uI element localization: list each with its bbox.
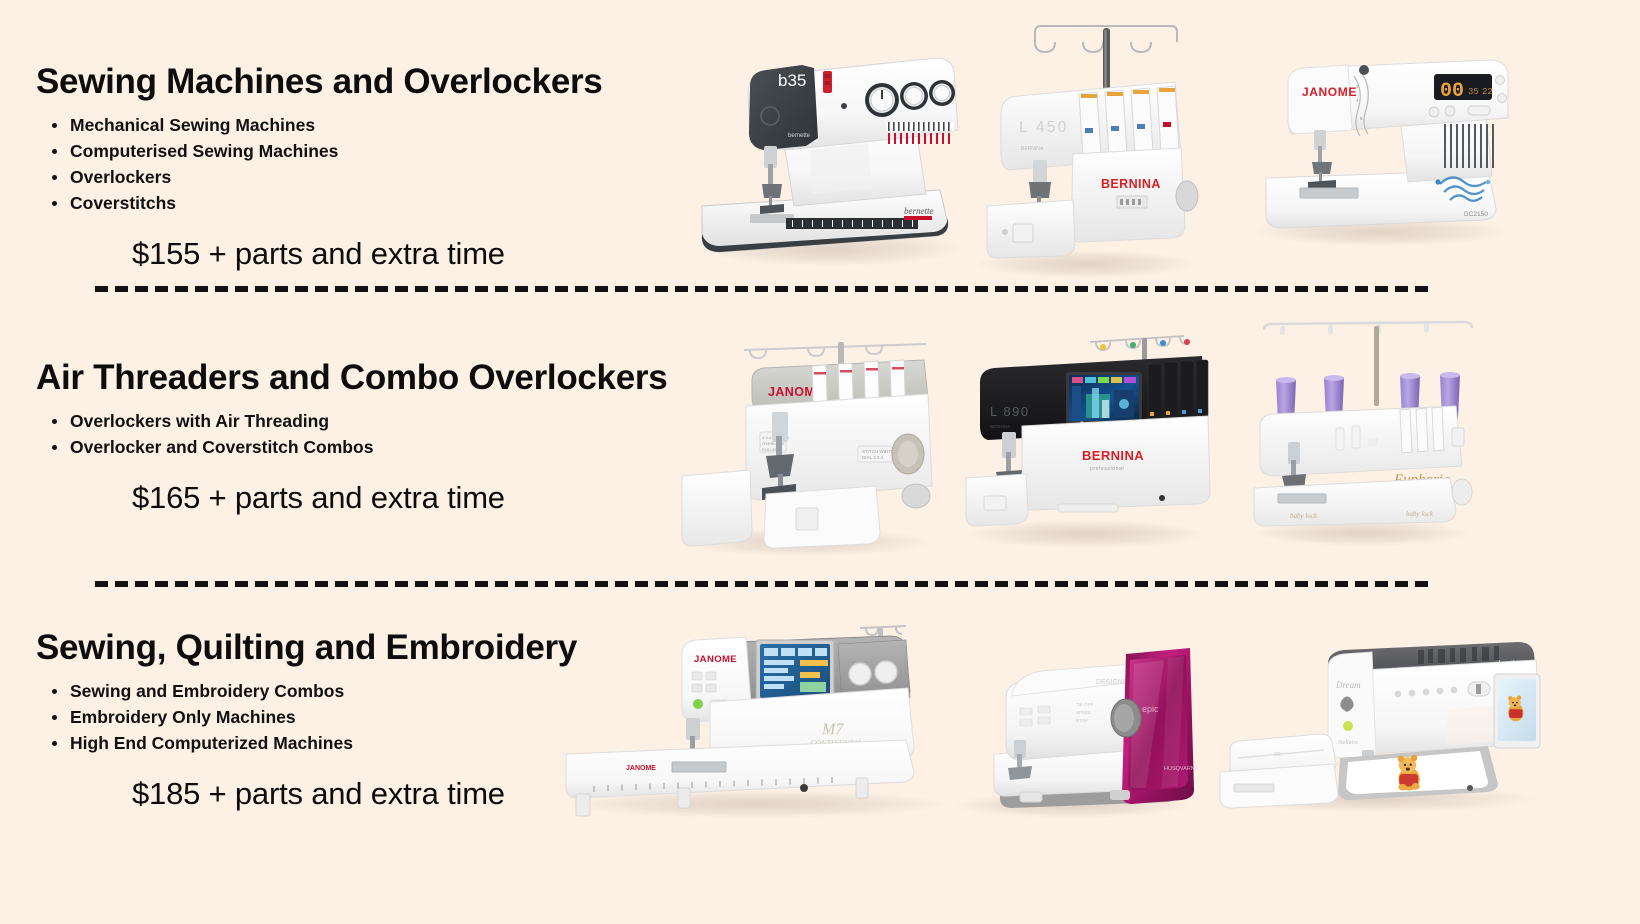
svg-text:Dream: Dream xyxy=(1335,680,1361,690)
machine-janome-continental: JANOME M7 CONTI xyxy=(560,622,956,818)
svg-text:BERNINA: BERNINA xyxy=(990,424,1010,429)
machine-janome-overlocker: JANOME 4-3-2 THREADOVERLOCKROLLED STITCH… xyxy=(676,336,932,552)
section-2-heading: Air Threaders and Combo Overlockers xyxy=(36,358,667,398)
section-1-bullet-list: Mechanical Sewing Machines Computerised … xyxy=(36,112,602,216)
svg-text:BERNINA: BERNINA xyxy=(1082,448,1144,463)
list-item: Overlockers xyxy=(36,164,602,190)
svg-text:HUSQVARNA: HUSQVARNA xyxy=(1164,766,1199,772)
svg-text:baby lock: baby lock xyxy=(1290,512,1318,520)
svg-text:35: 35 xyxy=(1468,87,1479,97)
list-item: High End Computerized Machines xyxy=(36,730,577,756)
svg-text:JANOME: JANOME xyxy=(694,654,737,665)
section-2-price: $165 + parts and extra time xyxy=(36,480,667,516)
svg-text:22: 22 xyxy=(1482,87,1493,97)
list-item: Embroidery Only Machines xyxy=(36,704,577,730)
machine-bernina-l450: L 450 BERNINA BERNINA xyxy=(975,20,1197,266)
svg-text:BERNINA: BERNINA xyxy=(1101,177,1161,191)
svg-text:baby lock: baby lock xyxy=(1406,510,1434,518)
svg-text:DC2150: DC2150 xyxy=(1464,211,1488,218)
svg-text:SPEED: SPEED xyxy=(1076,710,1092,715)
svg-text:bernette: bernette xyxy=(904,206,934,216)
list-item: Coverstitchs xyxy=(36,190,602,216)
section-3-heading: Sewing, Quilting and Embroidery xyxy=(36,628,577,668)
list-item: Computerised Sewing Machines xyxy=(36,138,602,164)
machine-bernette-b35: b35 bernette xyxy=(690,38,958,262)
svg-text:epic: epic xyxy=(1142,704,1159,714)
svg-text:L 450: L 450 xyxy=(1019,119,1068,136)
divider-2 xyxy=(95,581,1432,587)
svg-text:TIE OFF: TIE OFF xyxy=(1076,702,1093,707)
svg-text:BERNINA: BERNINA xyxy=(1021,146,1044,152)
svg-text:XE: XE xyxy=(1274,752,1281,758)
section-sewing-machines-and-overlockers: Sewing Machines and Overlockers Mechanic… xyxy=(36,62,602,272)
svg-text:bernette: bernette xyxy=(788,133,811,139)
machine-husqvarna-epic: TIE OFFSPEEDSTOP DESIGNER epic HUSQVARNA xyxy=(950,640,1194,816)
divider-1 xyxy=(95,286,1432,292)
machine-brother-embroidery: brother Dream Stellaire xyxy=(1212,638,1542,810)
section-3-price: $185 + parts and extra time xyxy=(36,776,577,812)
svg-text:STITCH WIDTH: STITCH WIDTH xyxy=(862,449,894,454)
machine-babylock-euphoria: Euphoria baby lock baby lock xyxy=(1250,312,1478,528)
section-2-bullet-list: Overlockers with Air Threading Overlocke… xyxy=(36,408,667,460)
svg-text:JANOME: JANOME xyxy=(1302,85,1357,99)
list-item: Mechanical Sewing Machines xyxy=(36,112,602,138)
svg-text:L 890: L 890 xyxy=(990,404,1030,419)
machine-bernina-l890: L 890 BERNINA BERNINA professional xyxy=(962,316,1210,528)
section-air-threaders-and-combo-overlockers: Air Threaders and Combo Overlockers Over… xyxy=(36,358,667,516)
svg-text:M7: M7 xyxy=(821,721,844,738)
machine-janome-dc2150: JANOME 345 00 3522 xyxy=(1252,58,1508,238)
svg-text:b35: b35 xyxy=(778,71,806,90)
led-display-value: 00 xyxy=(1440,80,1464,103)
svg-text:Stellaire: Stellaire xyxy=(1338,740,1358,746)
list-item: Overlocker and Coverstitch Combos xyxy=(36,434,667,460)
section-sewing-quilting-and-embroidery: Sewing, Quilting and Embroidery Sewing a… xyxy=(36,628,577,812)
list-item: Sewing and Embroidery Combos xyxy=(36,678,577,704)
svg-text:ROLLED: ROLLED xyxy=(762,447,778,452)
pricing-infographic: Sewing Machines and Overlockers Mechanic… xyxy=(0,0,1640,924)
list-item: Overlockers with Air Threading xyxy=(36,408,667,434)
section-1-price: $155 + parts and extra time xyxy=(36,236,602,272)
section-3-bullet-list: Sewing and Embroidery Combos Embroidery … xyxy=(36,678,577,756)
svg-text:DIAL 2 3 4: DIAL 2 3 4 xyxy=(862,455,884,460)
svg-text:STOP: STOP xyxy=(1076,718,1088,723)
svg-text:professional: professional xyxy=(1090,466,1124,472)
svg-text:JANOME: JANOME xyxy=(626,765,656,772)
section-1-heading: Sewing Machines and Overlockers xyxy=(36,62,602,102)
